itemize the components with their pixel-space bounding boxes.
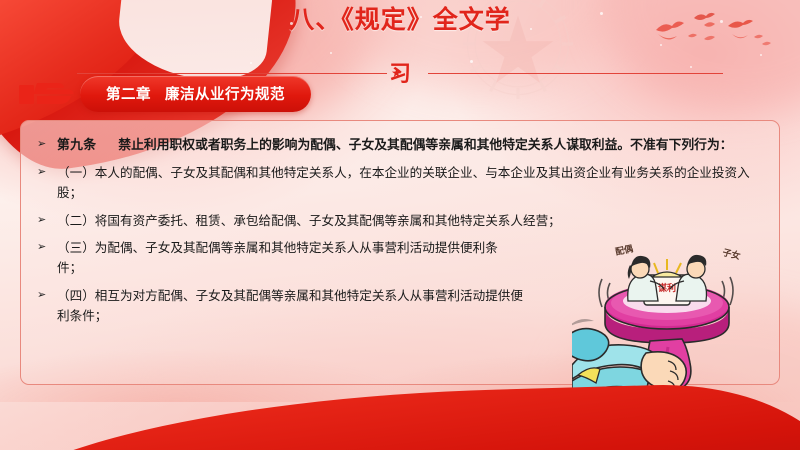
paragraph-text: （三）为配偶、子女及其配偶等亲属和其他特定关系人从事营利活动提供便利条件；	[57, 238, 513, 279]
paragraph-item-1: ➢ （一）本人的配偶、子女及其配偶和其他特定关系人，在本企业的关联企业、与本企业…	[37, 163, 763, 204]
paragraph-text: （一）本人的配偶、子女及其配偶和其他特定关系人，在本企业的关联企业、与本企业及其…	[57, 163, 763, 204]
bullet-arrow-icon: ➢	[37, 135, 57, 156]
slide-canvas: 八、《规定》全文学 ★ 习 第二章廉洁从业行为规范 ➢ 第九条禁止利用职权或者职…	[0, 0, 800, 450]
bullet-arrow-icon: ➢	[37, 286, 57, 327]
paragraph-article-9: ➢ 第九条禁止利用职权或者职务上的影响为配偶、子女及其配偶等亲属和其他特定关系人…	[37, 135, 763, 156]
chapter-pill[interactable]: 第二章廉洁从业行为规范	[80, 76, 311, 112]
bullet-arrow-icon: ➢	[37, 163, 57, 204]
children-label: 子女	[722, 246, 742, 261]
profit-bag-label: 谋利	[658, 282, 676, 293]
chapter-title: 廉洁从业行为规范	[165, 87, 285, 103]
article-label: 第九条	[57, 137, 96, 152]
pointing-hand-icon	[18, 79, 74, 109]
bullet-arrow-icon: ➢	[37, 238, 57, 279]
chapter-banner[interactable]: 第二章廉洁从业行为规范	[18, 76, 311, 112]
slide-title: 八、《规定》全文学	[0, 8, 800, 33]
spouse-label: 配偶	[614, 242, 634, 257]
slide-title-line-1: 八、《规定》全文学	[0, 8, 800, 33]
chapter-number: 第二章	[106, 87, 151, 103]
paragraph-text: （四）相互为对方配偶、子女及其配偶等亲属和其他特定关系人从事营利活动提供便利条件…	[57, 286, 533, 327]
bullet-arrow-icon: ➢	[37, 211, 57, 231]
paragraph-text: 第九条禁止利用职权或者职务上的影响为配偶、子女及其配偶等亲属和其他特定关系人谋取…	[57, 135, 763, 156]
article-body: 禁止利用职权或者职务上的影响为配偶、子女及其配偶等亲属和其他特定关系人谋取利益。…	[118, 137, 732, 152]
